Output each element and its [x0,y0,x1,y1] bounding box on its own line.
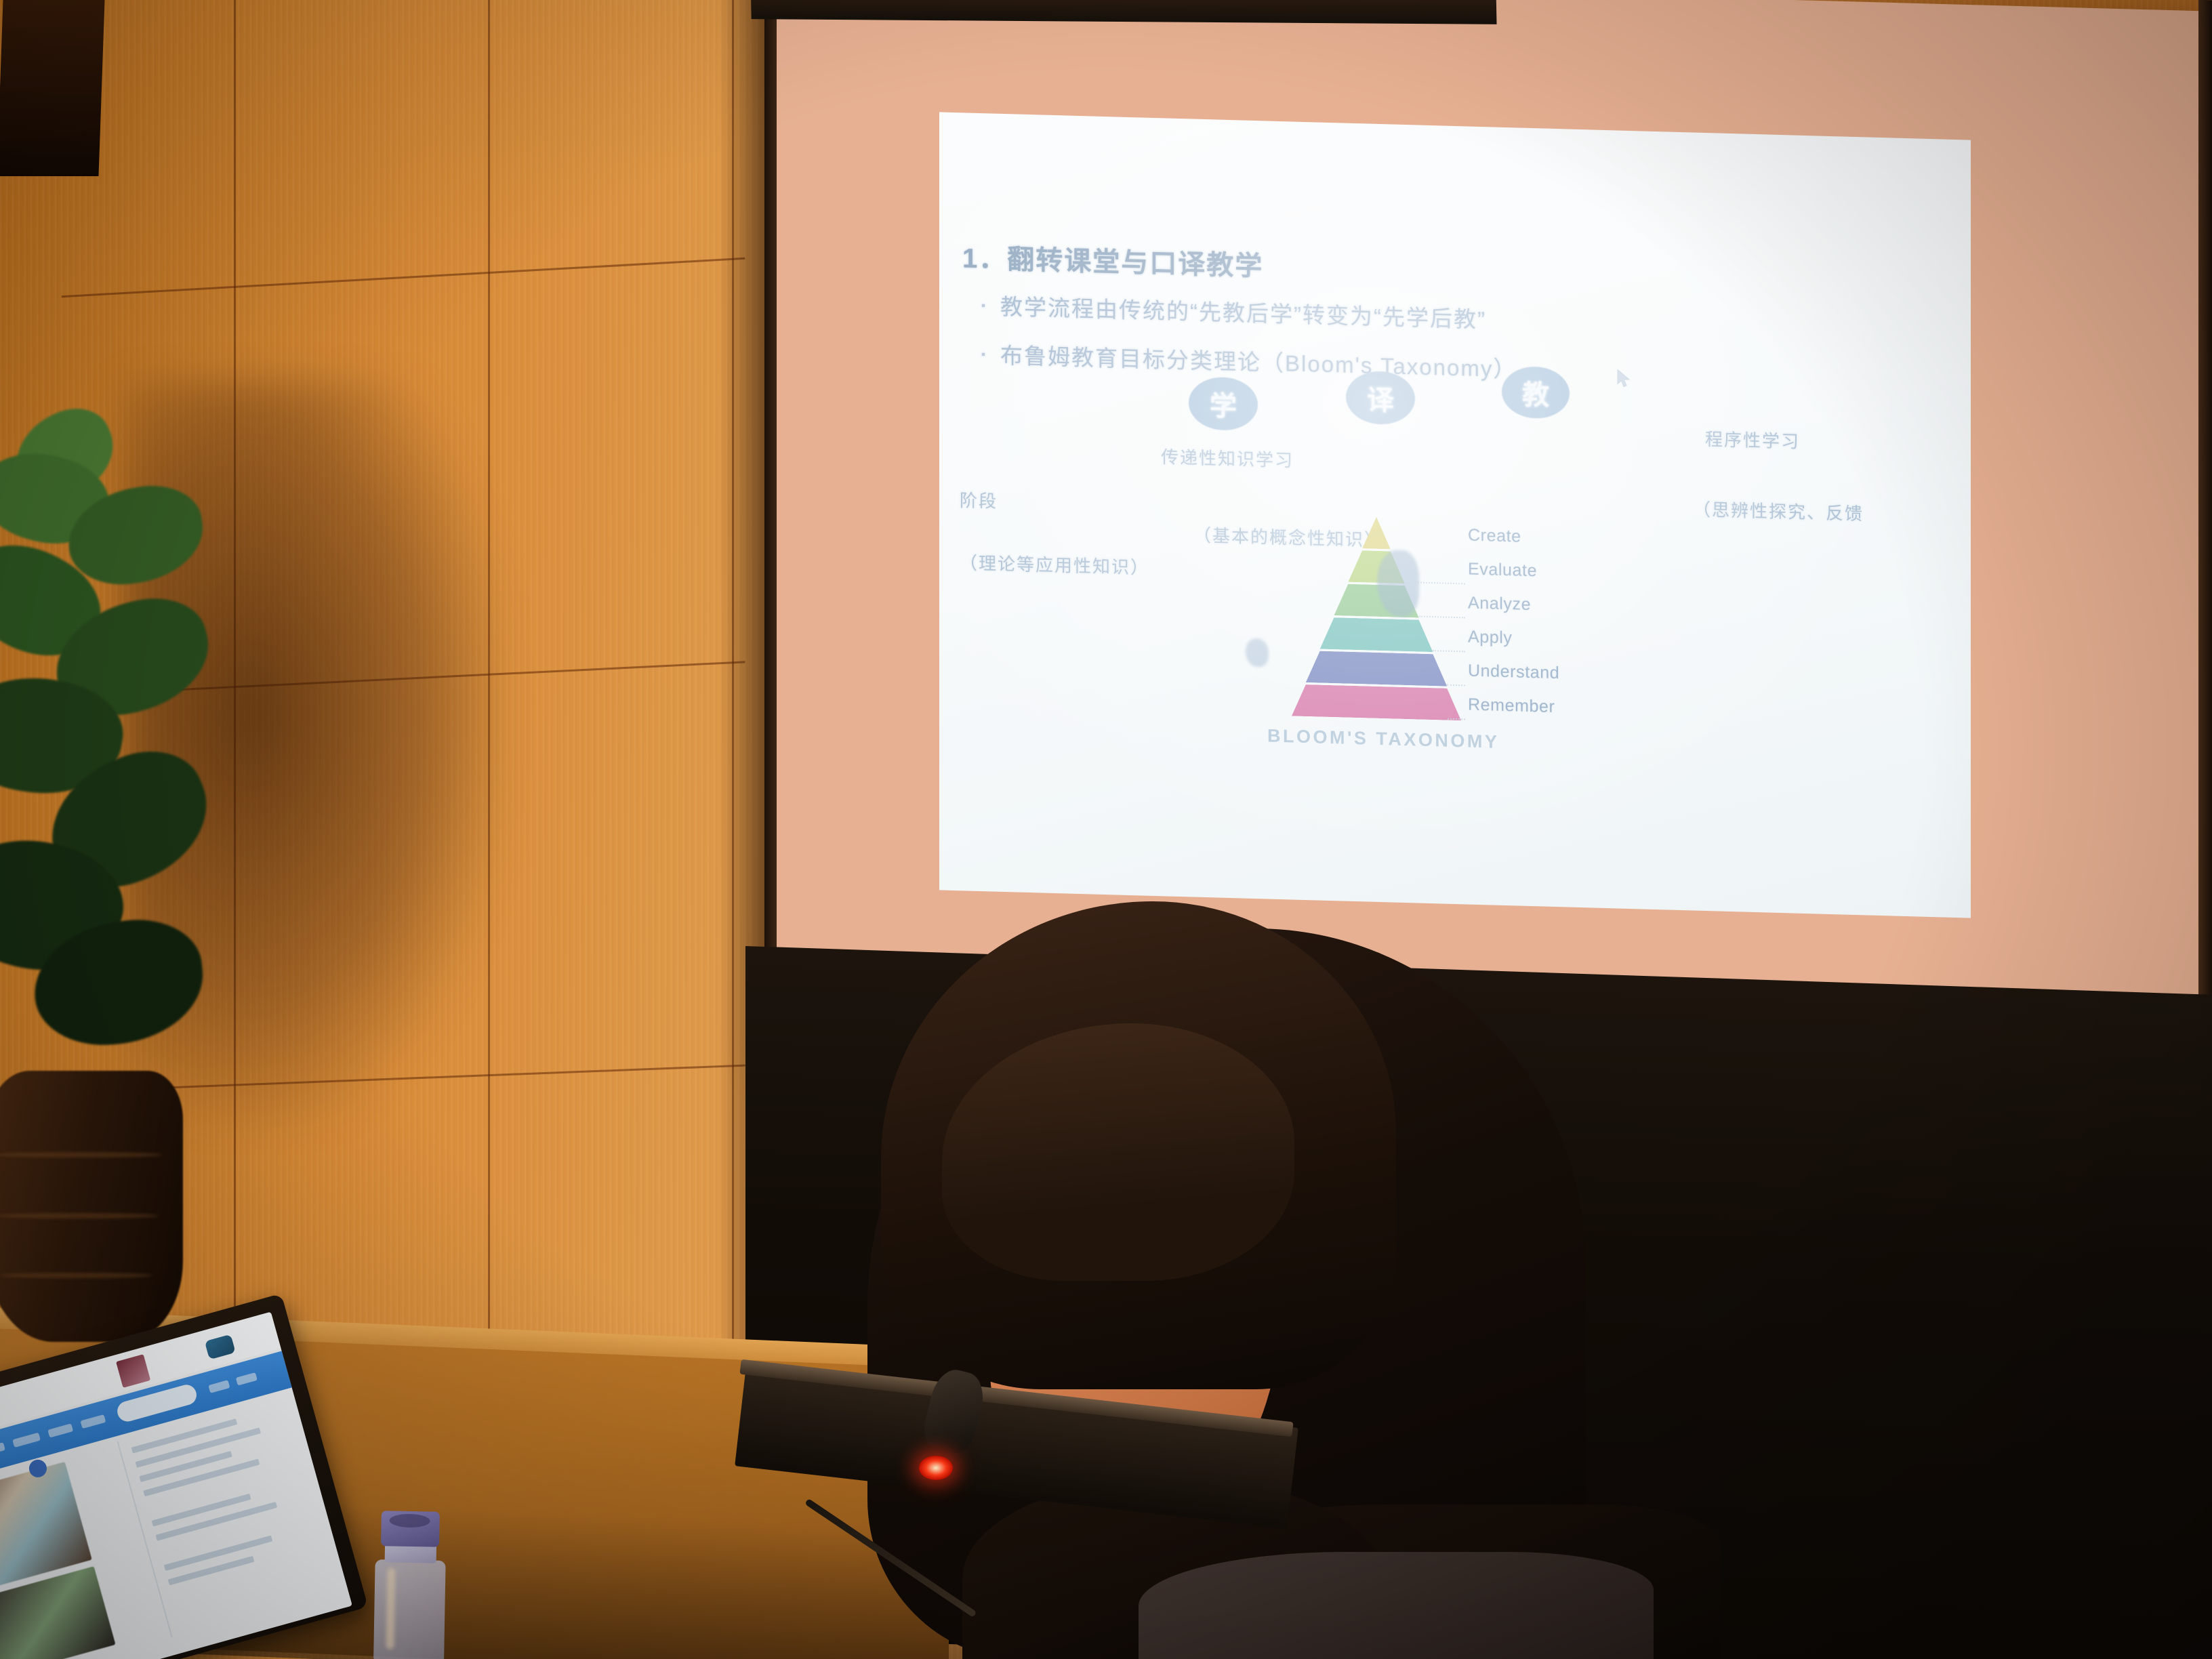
oval-xue: 学 [1189,376,1258,431]
screenshot-stage: 1．翻转课堂与口译教学 教学流程由传统的“先教后学”转变为“先学后教” 布鲁姆教… [0,0,2212,1659]
blooms-taxonomy-chart: BLOOM'S TAXONOMY CreateEvaluateAnalyzeAp… [1244,514,1624,781]
mouse-pointer-icon [1617,369,1632,390]
slide-bullet-1: 教学流程由传统的“先教后学”转变为“先学后教” [981,288,1486,334]
pyramid-tier-create [1292,514,1461,551]
water-bottle[interactable] [368,1511,452,1659]
microphone-led-indicator [919,1456,953,1480]
diagram-label-sibian: （思辨性探究、反馈 [1693,495,1864,525]
slide-content: 1．翻转课堂与口译教学 教学流程由传统的“先教后学”转变为“先学后教” 布鲁姆教… [939,112,1971,918]
potted-plant [0,407,285,1037]
pyramid-tier-understand [1292,650,1461,687]
diagram-label-chuandi: 传递性知识学习 [1161,443,1294,472]
pyramid-tier-remember [1292,684,1461,720]
microphone-stem [804,1498,977,1618]
diagram-label-chengxu: 程序性学习 [1705,426,1800,453]
pyramid-shadow [1246,638,1269,668]
nav-item[interactable] [80,1414,106,1429]
audience-member-shoulder [1139,1552,1654,1659]
slide-heading: 1．翻转课堂与口译教学 [962,236,1263,283]
nav-item[interactable] [236,1372,258,1386]
pyramid-tier-evaluate [1292,548,1461,585]
pyramid-graphic [1292,514,1461,722]
oval-jiao: 教 [1502,366,1570,419]
vase-ring [0,1152,163,1158]
nav-item[interactable] [47,1423,73,1437]
microphone-head [920,1366,989,1457]
vase-ring [0,1213,159,1218]
chart-title: BLOOM'S TAXONOMY [1267,726,1499,753]
slide-bullet-2: 布鲁姆教育目标分类理论（Bloom's Taxonomy） [981,337,1517,384]
wall-dark-corner [0,0,105,176]
text-line [139,1451,232,1482]
microphone[interactable] [800,1376,1084,1659]
bloom-label-create: Create [1468,526,1521,547]
projected-slide-area: 1．翻转课堂与口译教学 教学流程由传统的“先教后学”转变为“先学后教” 布鲁姆教… [939,112,1971,918]
bottle-body [373,1559,446,1659]
diagram-label-lilun: （理论等应用性知识） [960,549,1149,579]
bottle-highlight [386,1568,395,1649]
bloom-label-analyze: Analyze [1468,594,1531,615]
vase-ring [0,1273,152,1278]
pyramid-tier-analyze [1292,582,1461,619]
plant-vase [0,1071,183,1342]
nav-item[interactable] [12,1433,41,1448]
screen-edge-left [764,0,777,1057]
bloom-label-understand: Understand [1468,661,1559,684]
bloom-label-evaluate: Evaluate [1468,560,1537,581]
screen-edge-right [2198,0,2212,1152]
bloom-label-remember: Remember [1468,695,1555,717]
bloom-label-apply: Apply [1468,628,1513,649]
diagram-label-jieduan: 阶段 [960,487,998,513]
pyramid-tier-apply [1292,616,1461,653]
nav-item[interactable] [208,1380,230,1393]
nav-item[interactable] [0,1442,5,1457]
